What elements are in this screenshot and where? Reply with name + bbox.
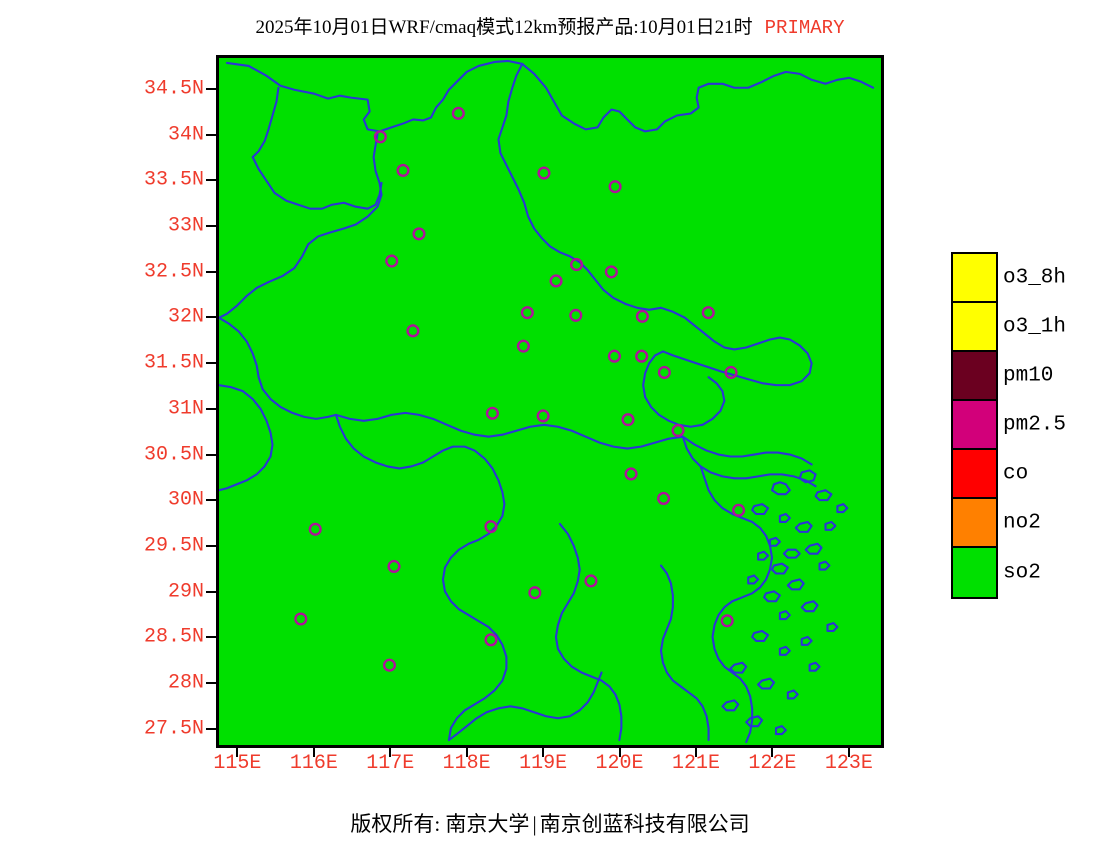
legend-swatch-pm25[interactable]: pm2.5 (953, 401, 996, 450)
legend-label: no2 (1003, 511, 1041, 534)
y-axis-tick-label: 32.5N (104, 260, 204, 283)
x-axis-tick-mark (619, 748, 621, 757)
y-axis-tick-mark (206, 362, 216, 364)
x-axis-tick-mark (236, 748, 238, 757)
y-axis-tick-label: 29N (104, 580, 204, 603)
y-axis-tick-mark (206, 134, 216, 136)
domain-fill (219, 58, 881, 745)
y-axis-tick-label: 33N (104, 214, 204, 237)
pollutant-legend[interactable]: o3_8ho3_1hpm10pm2.5cono2so2 (951, 252, 998, 599)
y-axis-tick-label: 32N (104, 306, 204, 329)
x-axis-tick-mark (313, 748, 315, 757)
title-main-text: 2025年10月01日WRF/cmaq模式12km预报产品:10月01日21时 (256, 17, 753, 38)
y-axis-tick-mark (206, 225, 216, 227)
legend-swatch-o31h[interactable]: o3_1h (953, 303, 996, 352)
y-axis-tick-mark (206, 271, 216, 273)
y-axis-tick-mark (206, 636, 216, 638)
x-axis-tick-mark (848, 748, 850, 757)
map-geometry (219, 58, 881, 745)
legend-label: pm2.5 (1003, 413, 1066, 436)
y-axis-tick-label: 34N (104, 123, 204, 146)
footer-separator: | (529, 812, 539, 836)
legend-label: so2 (1003, 561, 1041, 584)
legend-swatch-no2[interactable]: no2 (953, 499, 996, 548)
legend-label: o3_1h (1003, 315, 1066, 338)
y-axis-tick-mark (206, 591, 216, 593)
x-axis-tick-mark (695, 748, 697, 757)
legend-swatch-o38h[interactable]: o3_8h (953, 254, 996, 303)
x-axis-tick-mark (389, 748, 391, 757)
y-axis-tick-mark (206, 454, 216, 456)
y-axis-tick-label: 28.5N (104, 626, 204, 649)
y-axis-tick-mark (206, 88, 216, 90)
y-axis-tick-mark (206, 728, 216, 730)
y-axis-tick-label: 33.5N (104, 169, 204, 192)
legend-swatch-so2[interactable]: so2 (953, 548, 996, 597)
y-axis-tick-label: 28N (104, 672, 204, 695)
y-axis-tick-label: 31.5N (104, 352, 204, 375)
y-axis-tick-label: 30.5N (104, 443, 204, 466)
footer-right-text: 南京创蓝科技有限公司 (540, 812, 750, 836)
y-axis-tick-label: 34.5N (104, 77, 204, 100)
map-plot-area[interactable] (216, 55, 884, 748)
y-axis-tick-label: 31N (104, 397, 204, 420)
chart-title: 2025年10月01日WRF/cmaq模式12km预报产品:10月01日21时P… (0, 12, 1100, 39)
legend-label: o3_8h (1003, 266, 1066, 289)
y-axis-tick-mark (206, 408, 216, 410)
title-primary-tag: PRIMARY (753, 17, 845, 39)
copyright-footer: 版权所有: 南京大学|南京创蓝科技有限公司 (0, 808, 1100, 838)
y-axis-tick-mark (206, 179, 216, 181)
y-axis-tick-mark (206, 545, 216, 547)
x-axis-tick-mark (771, 748, 773, 757)
legend-label: pm10 (1003, 364, 1053, 387)
legend-label: co (1003, 462, 1028, 485)
y-axis-tick-label: 30N (104, 489, 204, 512)
y-axis-tick-label: 27.5N (104, 717, 204, 740)
x-axis-tick-mark (466, 748, 468, 757)
legend-swatch-co[interactable]: co (953, 450, 996, 499)
y-axis-tick-mark (206, 682, 216, 684)
footer-left-text: 版权所有: 南京大学 (350, 812, 529, 836)
y-axis-tick-mark (206, 499, 216, 501)
x-axis-tick-mark (542, 748, 544, 757)
y-axis-tick-label: 29.5N (104, 534, 204, 557)
legend-swatch-pm10[interactable]: pm10 (953, 352, 996, 401)
y-axis-tick-mark (206, 316, 216, 318)
